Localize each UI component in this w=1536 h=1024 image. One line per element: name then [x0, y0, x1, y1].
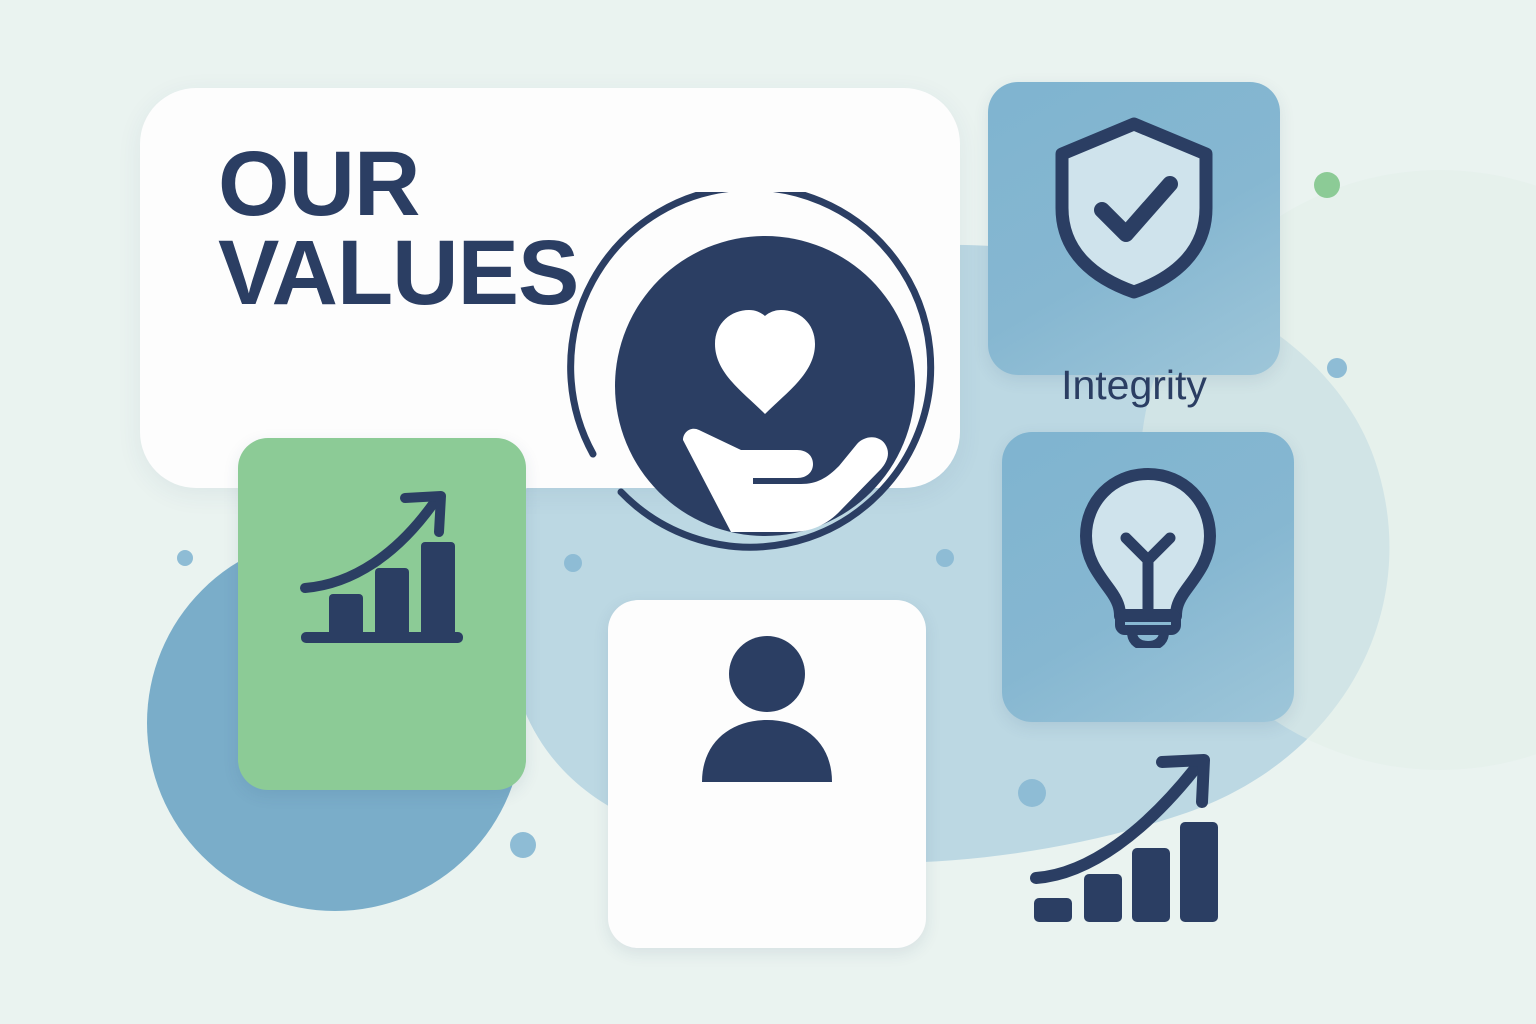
dot	[510, 832, 536, 858]
lightbulb-icon-wrap	[1002, 466, 1294, 648]
infographic-canvas: OUR VALUES Integrity	[0, 0, 1536, 1024]
value-card-innovation[interactable]: Innovation	[1002, 432, 1294, 722]
bar-1	[329, 594, 363, 636]
growth-chart-decoration	[1022, 748, 1244, 930]
value-card-integrity[interactable]: Integrity	[988, 82, 1280, 375]
chart-baseline	[301, 632, 463, 643]
bar-2	[375, 568, 409, 636]
person-icon	[692, 630, 842, 790]
growth-arrow-line	[1036, 770, 1194, 878]
growth-arrow-line	[305, 504, 433, 588]
lightbulb-icon	[1068, 466, 1228, 648]
shield-shape	[1062, 124, 1206, 292]
bar-3	[1132, 848, 1170, 922]
person-icon-wrap	[608, 630, 926, 790]
shield-check-icon	[1046, 112, 1222, 302]
bar-2	[1084, 874, 1122, 922]
dot	[1327, 358, 1347, 378]
growth-bar-chart-icon-wrap	[238, 476, 526, 666]
bar-1	[1034, 898, 1072, 922]
value-card-customer-focus-white[interactable]: Customer Focus	[608, 600, 926, 948]
person-head	[729, 636, 805, 712]
person-body	[702, 720, 832, 782]
growth-bar-chart-icon	[287, 476, 477, 666]
value-card-customer-focus-green[interactable]: Customer Focus	[238, 438, 526, 790]
dot	[177, 550, 193, 566]
bar-4	[1180, 822, 1218, 922]
value-card-label: Integrity	[968, 364, 1300, 408]
dot	[1314, 172, 1340, 198]
shield-check-icon-wrap	[988, 112, 1280, 302]
bar-3	[421, 542, 455, 636]
heart-in-hand-emblem	[565, 192, 965, 580]
